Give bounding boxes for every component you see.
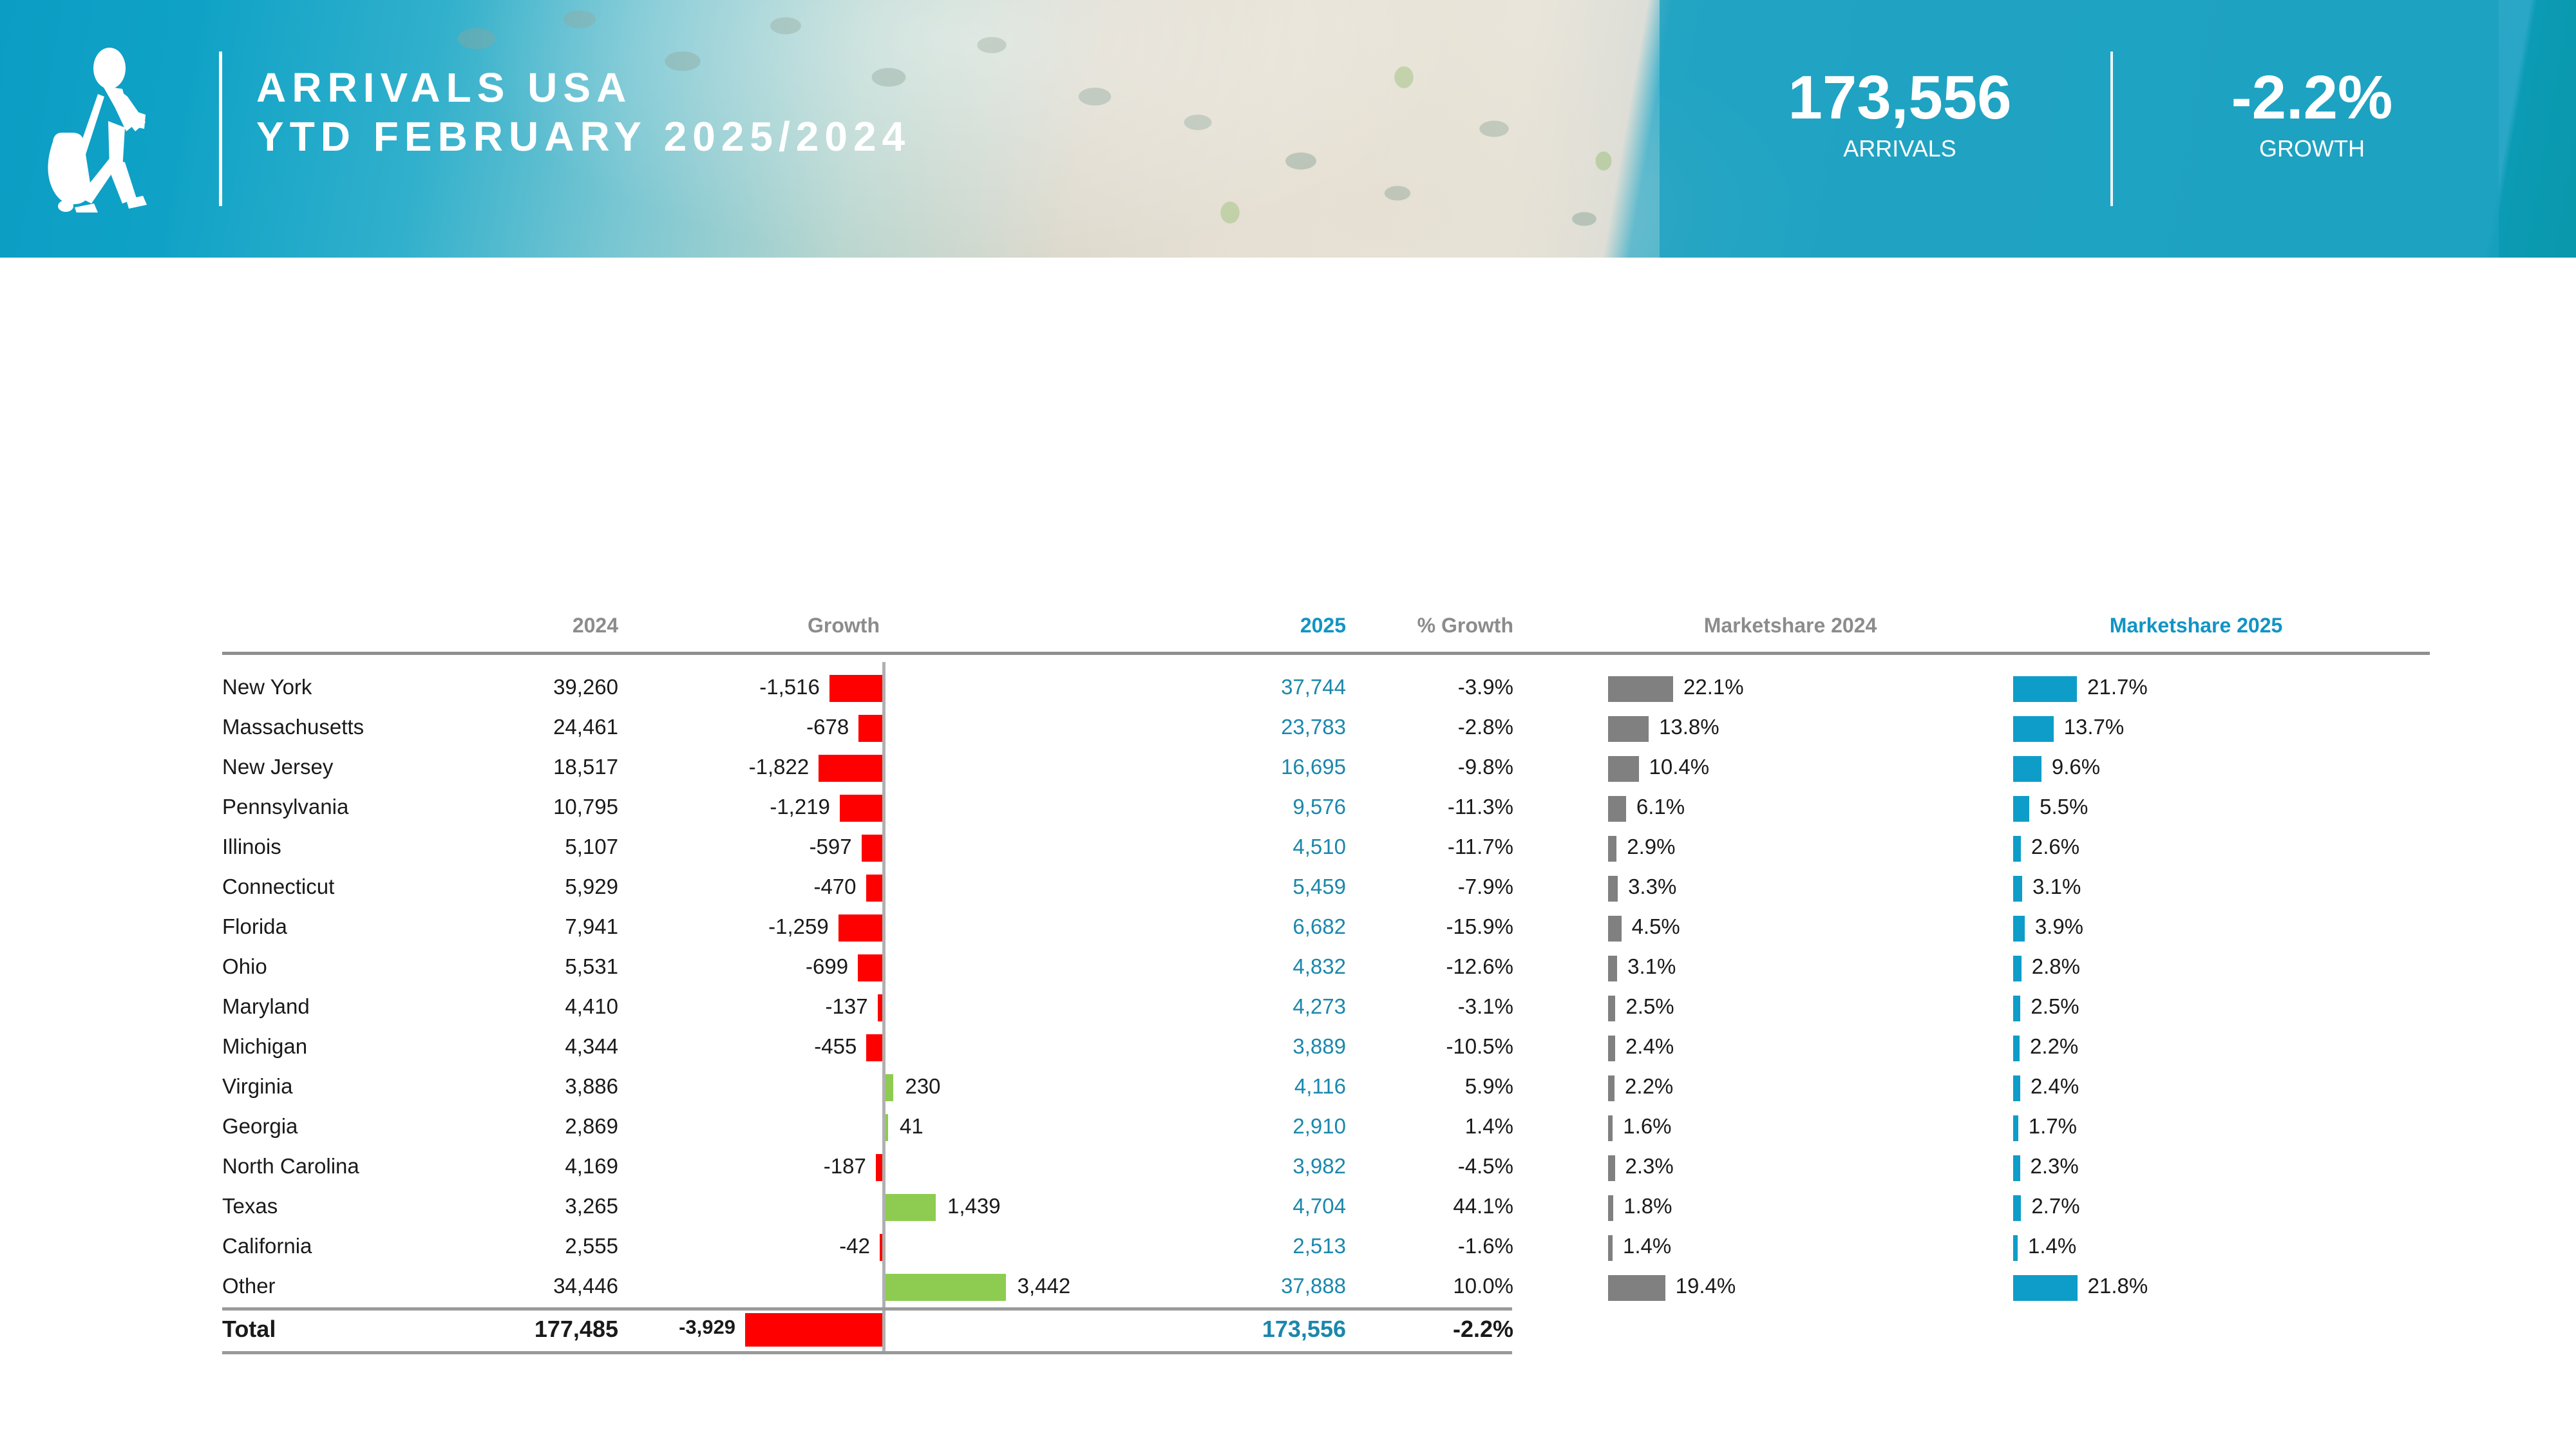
table-row: Connecticut5,929-4705,459-7.9%3.3%3.1% bbox=[0, 869, 2576, 909]
row-marketshare-2024-bar bbox=[1608, 796, 1626, 822]
row-marketshare-2025-label: 2.6% bbox=[2031, 835, 2079, 859]
stat-divider bbox=[2110, 52, 2113, 206]
row-marketshare-2025-bar bbox=[2013, 716, 2054, 742]
row-growth-bar-negative bbox=[876, 1154, 882, 1181]
row-value-2024: 7,941 bbox=[489, 914, 618, 939]
row-pct-growth: -3.9% bbox=[1359, 675, 1513, 699]
row-marketshare-2025-bar bbox=[2013, 676, 2077, 702]
row-growth-label: 1,439 bbox=[947, 1194, 1141, 1218]
row-marketshare-2025-label: 3.1% bbox=[2032, 875, 2081, 899]
row-growth-bar-negative bbox=[862, 835, 882, 862]
row-growth-bar-positive bbox=[885, 1114, 888, 1141]
table-row: Pennsylvania10,795-1,2199,576-11.3%6.1%5… bbox=[0, 790, 2576, 829]
row-pct-growth: -11.3% bbox=[1359, 795, 1513, 819]
row-marketshare-2025-bar bbox=[2013, 1075, 2020, 1101]
row-marketshare-2025-bar bbox=[2013, 796, 2029, 822]
total-value-2025: 173,556 bbox=[1179, 1316, 1346, 1343]
row-marketshare-2025-label: 2.3% bbox=[2031, 1154, 2079, 1179]
row-marketshare-2024-bar bbox=[1608, 1075, 1615, 1101]
row-marketshare-2024-label: 13.8% bbox=[1659, 715, 1719, 739]
row-marketshare-2024-label: 4.5% bbox=[1632, 914, 1680, 939]
row-marketshare-2024-bar bbox=[1608, 876, 1618, 902]
row-pct-growth: -11.7% bbox=[1359, 835, 1513, 859]
row-value-2025: 4,832 bbox=[1179, 954, 1346, 979]
row-pct-growth: -7.9% bbox=[1359, 875, 1513, 899]
row-marketshare-2025-label: 9.6% bbox=[2052, 755, 2100, 779]
row-marketshare-2024-bar bbox=[1608, 756, 1639, 782]
row-marketshare-2025-bar bbox=[2013, 1275, 2078, 1301]
table-row: New Jersey18,517-1,82216,695-9.8%10.4%9.… bbox=[0, 750, 2576, 790]
row-pct-growth: -15.9% bbox=[1359, 914, 1513, 939]
table-row: Illinois5,107-5974,510-11.7%2.9%2.6% bbox=[0, 829, 2576, 869]
traveller-walking-with-suitcase-icon bbox=[33, 45, 182, 213]
table-row: Other34,4463,44237,88810.0%19.4%21.8% bbox=[0, 1269, 2576, 1309]
row-marketshare-2024-bar bbox=[1608, 1275, 1665, 1301]
column-header-marketshare-2025: Marketshare 2025 bbox=[2003, 614, 2389, 638]
page-title: ARRIVALS USA YTD FEBRUARY 2025/2024 bbox=[256, 63, 1351, 161]
stat-arrivals: 173,556 ARRIVALS bbox=[1700, 64, 2099, 164]
row-value-2025: 16,695 bbox=[1179, 755, 1346, 779]
row-growth-bar-negative bbox=[819, 755, 882, 782]
row-value-2025: 23,783 bbox=[1179, 715, 1346, 739]
row-growth-label: -470 bbox=[670, 875, 857, 899]
stat-growth-label: GROWTH bbox=[2151, 134, 2473, 164]
row-growth-label: -1,219 bbox=[643, 795, 830, 819]
title-divider bbox=[219, 52, 222, 206]
row-marketshare-2024-bar bbox=[1608, 916, 1622, 942]
row-marketshare-2024-bar bbox=[1608, 716, 1649, 742]
row-marketshare-2024-label: 3.1% bbox=[1627, 954, 1676, 979]
row-growth-bar-negative bbox=[840, 795, 882, 822]
row-value-2024: 24,461 bbox=[489, 715, 618, 739]
table-total-row: Total177,485-3,929173,556-2.2% bbox=[0, 1311, 2576, 1350]
row-value-2025: 3,982 bbox=[1179, 1154, 1346, 1179]
column-header-growth: Growth bbox=[773, 614, 914, 638]
row-marketshare-2024-label: 22.1% bbox=[1683, 675, 1744, 699]
row-marketshare-2024-bar bbox=[1608, 1155, 1615, 1181]
row-marketshare-2024-label: 1.8% bbox=[1624, 1194, 1672, 1218]
total-growth-bar-negative bbox=[745, 1313, 882, 1347]
row-value-2024: 4,410 bbox=[489, 994, 618, 1019]
row-growth-bar-positive bbox=[885, 1074, 893, 1101]
row-value-2025: 37,888 bbox=[1179, 1274, 1346, 1298]
row-marketshare-2024-bar bbox=[1608, 956, 1617, 981]
row-marketshare-2025-label: 5.5% bbox=[2040, 795, 2088, 819]
row-growth-bar-negative bbox=[880, 1234, 882, 1261]
row-marketshare-2025-label: 3.9% bbox=[2035, 914, 2083, 939]
row-value-2025: 6,682 bbox=[1179, 914, 1346, 939]
table-header-rule bbox=[222, 652, 2430, 655]
row-growth-bar-negative bbox=[838, 914, 882, 942]
row-value-2025: 9,576 bbox=[1179, 795, 1346, 819]
row-growth-bar-negative bbox=[866, 875, 882, 902]
row-pct-growth: 44.1% bbox=[1359, 1194, 1513, 1218]
table-row: North Carolina4,169-1873,982-4.5%2.3%2.3… bbox=[0, 1149, 2576, 1189]
row-marketshare-2025-bar bbox=[2013, 916, 2025, 942]
row-pct-growth: -9.8% bbox=[1359, 755, 1513, 779]
row-value-2025: 4,510 bbox=[1179, 835, 1346, 859]
row-marketshare-2025-bar bbox=[2013, 956, 2022, 981]
row-marketshare-2025-bar bbox=[2013, 996, 2020, 1021]
row-marketshare-2025-label: 21.7% bbox=[2087, 675, 2148, 699]
row-growth-bar-negative bbox=[866, 1034, 882, 1061]
row-marketshare-2024-bar bbox=[1608, 996, 1615, 1021]
row-growth-label: -1,516 bbox=[633, 675, 820, 699]
table-row: Georgia2,869412,9101.4%1.6%1.7% bbox=[0, 1109, 2576, 1149]
row-marketshare-2024-label: 1.6% bbox=[1623, 1114, 1671, 1139]
row-marketshare-2025-label: 2.7% bbox=[2031, 1194, 2079, 1218]
row-growth-bar-negative bbox=[878, 994, 882, 1021]
row-growth-label: 41 bbox=[900, 1114, 1093, 1139]
row-marketshare-2025-bar bbox=[2013, 1036, 2020, 1061]
row-marketshare-2024-label: 1.4% bbox=[1623, 1234, 1671, 1258]
column-header-marketshare-2024: Marketshare 2024 bbox=[1607, 614, 1974, 638]
stat-growth: -2.2% GROWTH bbox=[2151, 64, 2473, 164]
row-value-2025: 37,744 bbox=[1179, 675, 1346, 699]
table-row: Florida7,941-1,2596,682-15.9%4.5%3.9% bbox=[0, 909, 2576, 949]
title-line-1: ARRIVALS USA bbox=[256, 63, 1351, 112]
row-marketshare-2025-label: 13.7% bbox=[2064, 715, 2125, 739]
row-growth-label: -455 bbox=[670, 1034, 857, 1059]
row-marketshare-2025-bar bbox=[2013, 836, 2021, 862]
row-pct-growth: 1.4% bbox=[1359, 1114, 1513, 1139]
row-growth-label: -187 bbox=[679, 1154, 866, 1179]
row-marketshare-2025-bar bbox=[2013, 1115, 2018, 1141]
row-growth-bar-negative bbox=[858, 715, 882, 742]
row-marketshare-2024-label: 2.5% bbox=[1625, 994, 1674, 1019]
stat-arrivals-label: ARRIVALS bbox=[1700, 134, 2099, 164]
row-growth-label: -1,822 bbox=[622, 755, 809, 779]
row-value-2025: 5,459 bbox=[1179, 875, 1346, 899]
row-marketshare-2024-label: 19.4% bbox=[1676, 1274, 1736, 1298]
row-value-2025: 4,116 bbox=[1179, 1074, 1346, 1099]
row-growth-label: -699 bbox=[661, 954, 848, 979]
row-marketshare-2025-bar bbox=[2013, 756, 2041, 782]
row-marketshare-2024-bar bbox=[1608, 676, 1673, 702]
row-value-2024: 39,260 bbox=[489, 675, 618, 699]
row-value-2024: 10,795 bbox=[489, 795, 618, 819]
header-banner: ARRIVALS USA YTD FEBRUARY 2025/2024 173,… bbox=[0, 0, 2576, 258]
row-value-2024: 5,929 bbox=[489, 875, 618, 899]
column-header-pct-growth: % Growth bbox=[1359, 614, 1513, 638]
row-marketshare-2024-bar bbox=[1608, 1195, 1613, 1221]
row-pct-growth: 10.0% bbox=[1359, 1274, 1513, 1298]
row-marketshare-2025-bar bbox=[2013, 1195, 2021, 1221]
table-row: Michigan4,344-4553,889-10.5%2.4%2.2% bbox=[0, 1029, 2576, 1069]
row-pct-growth: -2.8% bbox=[1359, 715, 1513, 739]
title-line-2: YTD FEBRUARY 2025/2024 bbox=[256, 112, 1351, 161]
row-value-2024: 2,869 bbox=[489, 1114, 618, 1139]
row-pct-growth: -10.5% bbox=[1359, 1034, 1513, 1059]
row-marketshare-2024-label: 10.4% bbox=[1649, 755, 1710, 779]
row-marketshare-2025-label: 2.2% bbox=[2030, 1034, 2078, 1059]
row-growth-label: -678 bbox=[662, 715, 849, 739]
table-row: California2,555-422,513-1.6%1.4%1.4% bbox=[0, 1229, 2576, 1269]
column-header-2024: 2024 bbox=[509, 614, 618, 638]
table-row: Massachusetts24,461-67823,783-2.8%13.8%1… bbox=[0, 710, 2576, 750]
total-rule-bottom bbox=[222, 1351, 1512, 1354]
row-marketshare-2024-bar bbox=[1608, 1036, 1615, 1061]
row-marketshare-2025-label: 2.5% bbox=[2031, 994, 2079, 1019]
row-value-2025: 4,273 bbox=[1179, 994, 1346, 1019]
row-pct-growth: -1.6% bbox=[1359, 1234, 1513, 1258]
stat-arrivals-value: 173,556 bbox=[1700, 64, 2099, 131]
row-marketshare-2024-label: 2.9% bbox=[1627, 835, 1675, 859]
row-growth-label: -1,259 bbox=[642, 914, 829, 939]
row-pct-growth: -3.1% bbox=[1359, 994, 1513, 1019]
row-marketshare-2025-bar bbox=[2013, 1235, 2018, 1261]
row-marketshare-2024-label: 3.3% bbox=[1628, 875, 1676, 899]
stat-growth-value: -2.2% bbox=[2151, 64, 2473, 131]
row-growth-label: 230 bbox=[905, 1074, 1098, 1099]
table-row: Virginia3,8862304,1165.9%2.2%2.4% bbox=[0, 1069, 2576, 1109]
row-marketshare-2024-bar bbox=[1608, 1115, 1613, 1141]
row-pct-growth: 5.9% bbox=[1359, 1074, 1513, 1099]
row-growth-label: -42 bbox=[683, 1234, 870, 1258]
table-row: Ohio5,531-6994,832-12.6%3.1%2.8% bbox=[0, 949, 2576, 989]
row-growth-bar-positive bbox=[885, 1274, 1006, 1301]
arrivals-table: 2024 Growth 2025 % Growth Marketshare 20… bbox=[0, 258, 2576, 1449]
row-pct-growth: -12.6% bbox=[1359, 954, 1513, 979]
row-marketshare-2025-label: 21.8% bbox=[2088, 1274, 2148, 1298]
row-marketshare-2025-label: 2.4% bbox=[2031, 1074, 2079, 1099]
total-pct-growth: -2.2% bbox=[1359, 1316, 1513, 1343]
column-header-2025: 2025 bbox=[1211, 614, 1346, 638]
row-marketshare-2025-bar bbox=[2013, 876, 2022, 902]
row-value-2024: 2,555 bbox=[489, 1234, 618, 1258]
row-pct-growth: -4.5% bbox=[1359, 1154, 1513, 1179]
table-row: Maryland4,410-1374,273-3.1%2.5%2.5% bbox=[0, 989, 2576, 1029]
row-marketshare-2024-label: 6.1% bbox=[1636, 795, 1685, 819]
row-marketshare-2025-bar bbox=[2013, 1155, 2020, 1181]
row-marketshare-2024-label: 2.2% bbox=[1625, 1074, 1673, 1099]
row-marketshare-2024-label: 2.3% bbox=[1625, 1154, 1674, 1179]
row-value-2025: 3,889 bbox=[1179, 1034, 1346, 1059]
total-growth-label: -3,929 bbox=[549, 1316, 735, 1339]
row-value-2024: 18,517 bbox=[489, 755, 618, 779]
row-value-2024: 4,169 bbox=[489, 1154, 618, 1179]
row-growth-bar-negative bbox=[858, 954, 882, 981]
row-value-2024: 3,265 bbox=[489, 1194, 618, 1218]
row-value-2024: 4,344 bbox=[489, 1034, 618, 1059]
row-growth-bar-positive bbox=[885, 1194, 936, 1221]
row-marketshare-2024-bar bbox=[1608, 1235, 1613, 1261]
row-value-2024: 5,531 bbox=[489, 954, 618, 979]
table-row: Texas3,2651,4394,70444.1%1.8%2.7% bbox=[0, 1189, 2576, 1229]
row-marketshare-2025-label: 1.7% bbox=[2029, 1114, 2077, 1139]
row-growth-label: -137 bbox=[681, 994, 868, 1019]
table-row: New York39,260-1,51637,744-3.9%22.1%21.7… bbox=[0, 670, 2576, 710]
row-marketshare-2025-label: 1.4% bbox=[2028, 1234, 2076, 1258]
row-growth-bar-negative bbox=[829, 675, 882, 702]
row-value-2025: 2,910 bbox=[1179, 1114, 1346, 1139]
row-value-2025: 4,704 bbox=[1179, 1194, 1346, 1218]
row-marketshare-2024-bar bbox=[1608, 836, 1616, 862]
row-value-2024: 3,886 bbox=[489, 1074, 618, 1099]
row-marketshare-2025-label: 2.8% bbox=[2032, 954, 2080, 979]
row-marketshare-2024-label: 2.4% bbox=[1625, 1034, 1674, 1059]
row-growth-label: -597 bbox=[665, 835, 852, 859]
row-value-2024: 5,107 bbox=[489, 835, 618, 859]
row-value-2024: 34,446 bbox=[489, 1274, 618, 1298]
row-value-2025: 2,513 bbox=[1179, 1234, 1346, 1258]
